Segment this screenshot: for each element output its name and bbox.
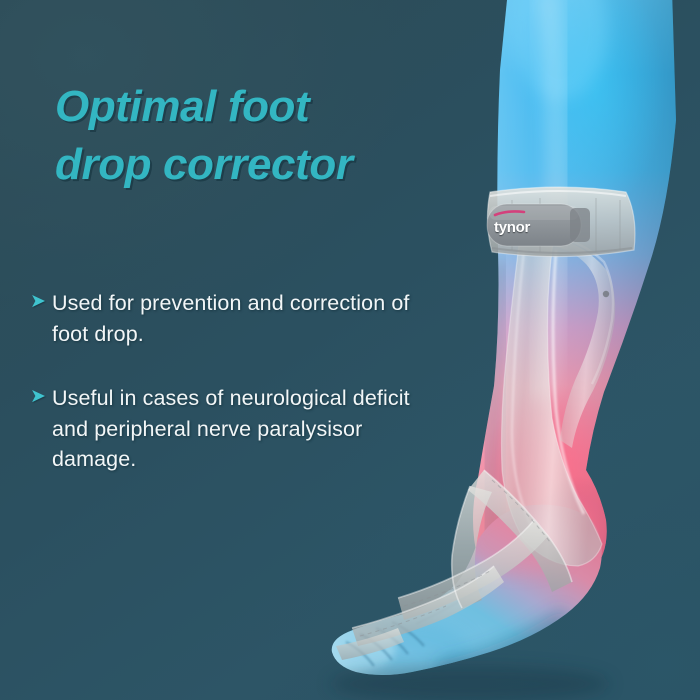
product-promo-banner: tynor Optimal foot drop corrector ➤ Used… xyxy=(0,0,700,700)
marketing-copy: Optimal foot drop corrector ➤ Used for p… xyxy=(0,0,440,700)
list-item: ➤ Used for prevention and correction of … xyxy=(30,288,440,349)
feature-bullet-list: ➤ Used for prevention and correction of … xyxy=(30,288,440,509)
bullet-text: Useful in cases of neurological deficit … xyxy=(52,383,440,475)
headline-line-2: drop corrector xyxy=(55,136,435,194)
bullet-text: Used for prevention and correction of fo… xyxy=(52,288,440,349)
headline-line-1: Optimal foot xyxy=(55,82,309,131)
arrow-bullet-icon: ➤ xyxy=(30,387,52,406)
tynor-brand-label: tynor xyxy=(494,219,530,236)
list-item: ➤ Useful in cases of neurological defici… xyxy=(30,383,440,475)
arrow-bullet-icon: ➤ xyxy=(30,292,52,311)
page-title: Optimal foot drop corrector xyxy=(55,78,435,194)
